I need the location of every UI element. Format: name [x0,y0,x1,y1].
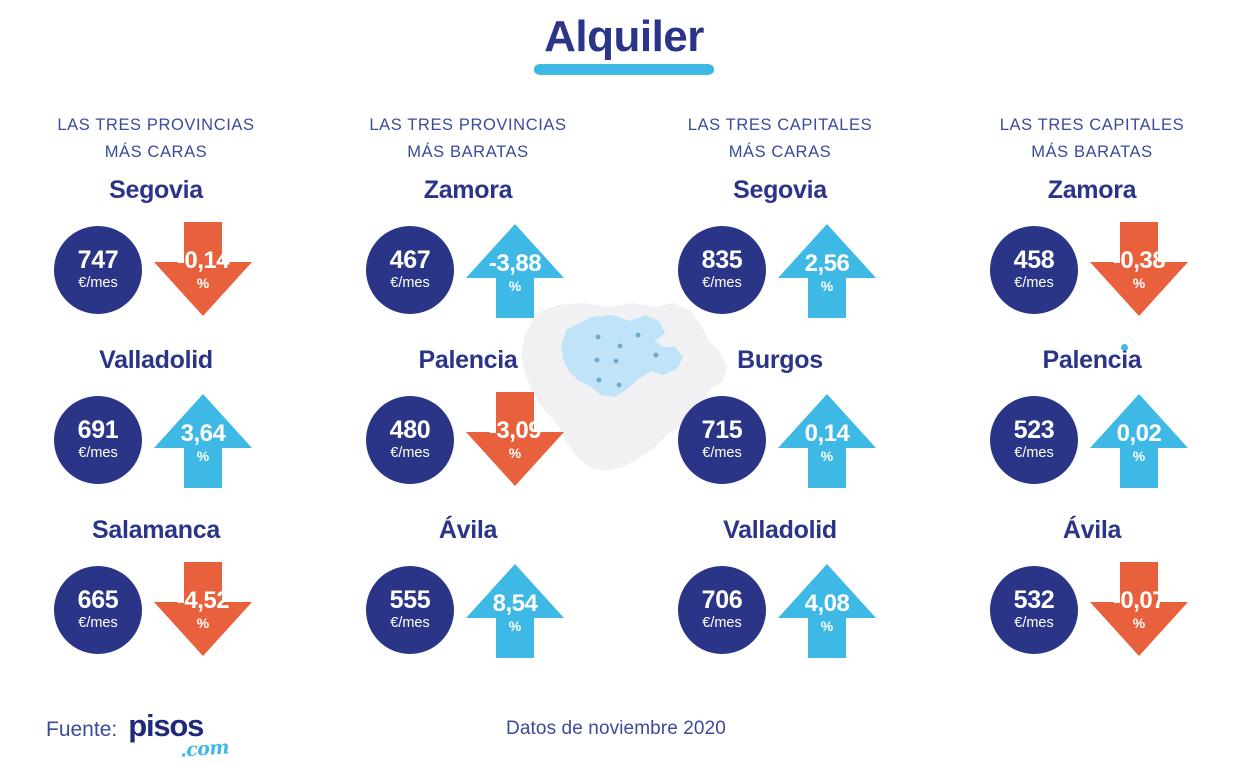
variation-arrow-up-icon: 2,56 % [772,218,882,322]
variation-arrow-up-icon: 0,14 % [772,388,882,492]
page-title: Alquiler [544,14,704,60]
price-unit: €/mes [390,444,430,462]
column-header: LAS TRES PROVINCIAS MÁS CARAS [57,112,254,168]
entry-location-name: Ávila [1063,510,1121,550]
price-value: 532 [1014,588,1055,613]
entry-location-name: Palencia [1042,340,1141,380]
variation-arrow-down-icon: -0,38 % [1084,218,1194,322]
footer: Fuente: pisos .com Datos de noviembre 20… [0,700,1248,770]
column-entries: Segovia 747 €/mes -0,14 % [0,170,312,680]
column-header-line2: MÁS CARAS [688,139,872,166]
variation-text: 3,64 % [181,422,226,463]
variation-arrow-down-icon: -0,14 % [148,218,258,322]
variation-unit: % [1133,449,1145,463]
entry-location-name: Valladolid [99,340,213,380]
column-header-line2: MÁS CARAS [57,139,254,166]
variation-arrow-up-icon: 0,02 % [1084,388,1194,492]
price-unit: €/mes [1014,444,1054,462]
column-header-line1: LAS TRES CAPITALES [688,112,872,139]
entry-item[interactable]: Ávila 555 €/mes 8,54 % [312,510,624,680]
entry-location-name: Salamanca [92,510,220,550]
price-circle: 665 €/mes [54,566,142,654]
entry-location-name: Ávila [439,510,497,550]
variation-value: -3,88 [489,252,541,276]
variation-text: -0,07 % [1113,589,1165,630]
variation-arrow-up-icon: 4,08 % [772,558,882,662]
variation-text: -3,88 % [489,252,541,293]
price-value: 480 [390,418,431,443]
price-unit: €/mes [78,614,118,632]
price-value: 835 [702,248,743,273]
footer-note-text: Datos de noviembre 2020 [506,718,726,740]
column-capitales-mas-baratas: LAS TRES CAPITALES MÁS BARATAS Zamora 45… [936,112,1248,692]
variation-unit: % [821,449,833,463]
entry-location-name: Burgos [737,340,823,380]
price-value: 747 [78,248,119,273]
column-entries: Segovia 835 €/mes 2,56 % [624,170,936,680]
variation-text: -3,09 % [489,419,541,460]
price-value: 691 [78,418,119,443]
variation-value: 0,02 [1117,422,1162,446]
entry-location-name: Valladolid [723,510,837,550]
price-circle: 555 €/mes [366,566,454,654]
entry-row: 747 €/mes -0,14 % [0,210,312,330]
entry-location-name: Segovia [109,170,203,210]
price-circle: 467 €/mes [366,226,454,314]
variation-value: 8,54 [493,592,538,616]
entry-row: 665 €/mes -4,52 % [0,550,312,670]
variation-arrow-up-icon: 8,54 % [460,558,570,662]
accent-dot-icon [1121,344,1128,351]
price-value: 523 [1014,418,1055,443]
title-underline-stroke [534,64,714,75]
entry-row: 706 €/mes 4,08 % [624,550,936,670]
entry-item[interactable]: Burgos 715 €/mes 0,14 % [624,340,936,510]
variation-unit: % [509,619,521,633]
variation-unit: % [1133,276,1145,290]
entry-item[interactable]: Segovia 747 €/mes -0,14 % [0,170,312,340]
price-unit: €/mes [702,274,742,292]
column-header-line2: MÁS BARATAS [369,139,566,166]
variation-text: 0,02 % [1117,422,1162,463]
variation-text: 8,54 % [493,592,538,633]
entry-row: 835 €/mes 2,56 % [624,210,936,330]
column-header: LAS TRES PROVINCIAS MÁS BARATAS [369,112,566,168]
price-value: 458 [1014,248,1055,273]
price-value: 715 [702,418,743,443]
entry-row: 715 €/mes 0,14 % [624,380,936,500]
variation-unit: % [1133,616,1145,630]
price-unit: €/mes [390,274,430,292]
variation-value: 3,64 [181,422,226,446]
variation-value: 0,14 [805,422,850,446]
variation-arrow-up-icon: -3,88 % [460,218,570,322]
variation-unit: % [509,279,521,293]
entry-item[interactable]: Salamanca 665 €/mes -4,52 % [0,510,312,680]
entry-item[interactable]: Palencia 480 €/mes -3,09 % [312,340,624,510]
price-unit: €/mes [1014,274,1054,292]
price-unit: €/mes [78,444,118,462]
variation-unit: % [821,279,833,293]
entry-row: 523 €/mes 0,02 % [936,380,1248,500]
entry-row: 532 €/mes -0,07 % [936,550,1248,670]
price-value: 467 [390,248,431,273]
price-unit: €/mes [702,614,742,632]
variation-value: -0,38 [1113,249,1165,273]
title-block: Alquiler [0,14,1248,75]
brand-tld: .com [180,736,230,761]
variation-unit: % [821,619,833,633]
entry-item[interactable]: Palencia 523 €/mes 0,02 % [936,340,1248,510]
column-header-line1: LAS TRES PROVINCIAS [57,112,254,139]
entry-row: 691 €/mes 3,64 % [0,380,312,500]
price-value: 706 [702,588,743,613]
variation-unit: % [197,449,209,463]
variation-arrow-down-icon: -4,52 % [148,558,258,662]
variation-arrow-down-icon: -3,09 % [460,388,570,492]
variation-text: 4,08 % [805,592,850,633]
price-unit: €/mes [1014,614,1054,632]
price-unit: €/mes [390,614,430,632]
entry-row: 480 €/mes -3,09 % [312,380,624,500]
variation-value: -0,07 [1113,589,1165,613]
entry-item[interactable]: Zamora 467 €/mes -3,88 % [312,170,624,340]
price-value: 555 [390,588,431,613]
entry-row: 467 €/mes -3,88 % [312,210,624,330]
entry-row: 458 €/mes -0,38 % [936,210,1248,330]
column-provincias-mas-baratas: LAS TRES PROVINCIAS MÁS BARATAS Zamora 4… [312,112,624,692]
column-header-line1: LAS TRES CAPITALES [1000,112,1184,139]
price-circle: 523 €/mes [990,396,1078,484]
entry-location-name: Palencia [418,340,517,380]
price-unit: €/mes [78,274,118,292]
variation-arrow-up-icon: 3,64 % [148,388,258,492]
price-circle: 715 €/mes [678,396,766,484]
price-unit: €/mes [702,444,742,462]
price-value: 665 [78,588,119,613]
entry-location-name: Segovia [733,170,827,210]
column-header: LAS TRES CAPITALES MÁS CARAS [688,112,872,168]
price-circle: 706 €/mes [678,566,766,654]
column-header-line2: MÁS BARATAS [1000,139,1184,166]
price-circle: 480 €/mes [366,396,454,484]
variation-text: -0,14 % [177,249,229,290]
price-circle: 458 €/mes [990,226,1078,314]
entry-item[interactable]: Segovia 835 €/mes 2,56 % [624,170,936,340]
footer-note: Datos de noviembre 2020 [0,718,1248,740]
price-circle: 691 €/mes [54,396,142,484]
variation-text: 0,14 % [805,422,850,463]
price-circle: 835 €/mes [678,226,766,314]
entry-row: 555 €/mes 8,54 % [312,550,624,670]
variation-value: -3,09 [489,419,541,443]
variation-unit: % [197,276,209,290]
column-entries: Zamora 467 €/mes -3,88 % [312,170,624,680]
variation-value: -0,14 [177,249,229,273]
variation-text: 2,56 % [805,252,850,293]
variation-value: -4,52 [177,589,229,613]
variation-text: -0,38 % [1113,249,1165,290]
variation-value: 4,08 [805,592,850,616]
stats-columns: LAS TRES PROVINCIAS MÁS CARAS Segovia 74… [0,112,1248,692]
variation-unit: % [197,616,209,630]
column-provincias-mas-caras: LAS TRES PROVINCIAS MÁS CARAS Segovia 74… [0,112,312,692]
variation-text: -4,52 % [177,589,229,630]
column-capitales-mas-caras: LAS TRES CAPITALES MÁS CARAS Segovia 835… [624,112,936,692]
entry-location-name: Zamora [424,170,513,210]
entry-item[interactable]: Zamora 458 €/mes -0,38 % [936,170,1248,340]
price-circle: 532 €/mes [990,566,1078,654]
entry-item[interactable]: Ávila 532 €/mes -0,07 % [936,510,1248,680]
variation-value: 2,56 [805,252,850,276]
entry-item[interactable]: Valladolid 706 €/mes 4,08 % [624,510,936,680]
entry-item[interactable]: Valladolid 691 €/mes 3,64 % [0,340,312,510]
column-header: LAS TRES CAPITALES MÁS BARATAS [1000,112,1184,168]
column-header-line1: LAS TRES PROVINCIAS [369,112,566,139]
price-circle: 747 €/mes [54,226,142,314]
column-entries: Zamora 458 €/mes -0,38 % [936,170,1248,680]
variation-unit: % [509,446,521,460]
variation-arrow-down-icon: -0,07 % [1084,558,1194,662]
entry-location-name: Zamora [1048,170,1137,210]
